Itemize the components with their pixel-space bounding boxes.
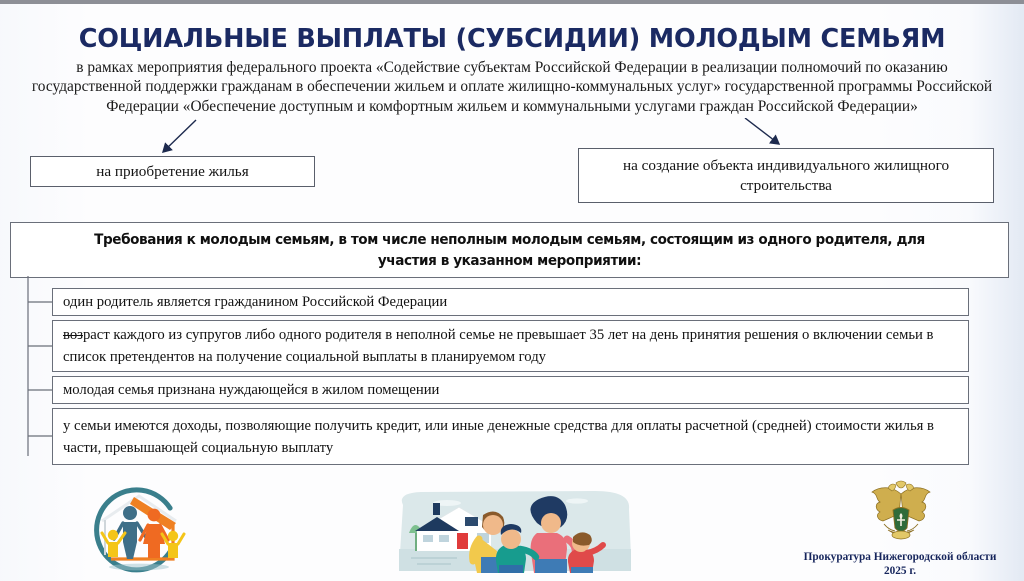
requirement-item[interactable]: возраст каждого из супругов либо одного … xyxy=(52,320,969,372)
top-divider-bar xyxy=(0,0,1024,4)
purpose-label: на приобретение жилья xyxy=(96,162,248,182)
requirement-text: у семьи имеются доходы, позволяющие полу… xyxy=(63,415,945,459)
family-house-logo xyxy=(78,483,200,575)
footer-year: 2025 г. xyxy=(776,564,1024,578)
requirement-text-wrapper: возраст каждого из супругов либо одного … xyxy=(63,324,945,368)
prosecutor-eagle-emblem xyxy=(866,480,936,546)
footer-organization: Прокуратура Нижегородской области xyxy=(776,550,1024,564)
family-illustration xyxy=(381,487,649,577)
requirements-header-box: Требования к молодым семьям, в том числе… xyxy=(10,222,1009,278)
page-title: СОЦИАЛЬНЫЕ ВЫПЛАТЫ (СУБСИДИИ) МОЛОДЫМ СЕ… xyxy=(0,24,1024,54)
requirement-strikethrough-prefix: воз xyxy=(63,327,83,343)
requirement-item[interactable]: один родитель является гражданином Росси… xyxy=(52,288,969,316)
requirement-item[interactable]: у семьи имеются доходы, позволяющие полу… xyxy=(52,408,969,465)
requirement-item[interactable]: молодая семья признана нуждающейся в жил… xyxy=(52,376,969,404)
purpose-box-acquisition[interactable]: на приобретение жилья xyxy=(30,156,315,187)
footer-block: Прокуратура Нижегородской области 2025 г… xyxy=(776,550,1024,578)
purpose-box-construction[interactable]: на создание объекта индивидуального жили… xyxy=(578,148,994,203)
requirement-text: раст каждого из супругов либо одного род… xyxy=(63,327,933,365)
requirements-header-text: Требования к молодым семьям, в том числе… xyxy=(70,229,949,271)
page-subtitle: в рамках мероприятия федерального проект… xyxy=(28,58,996,116)
poster-page: СОЦИАЛЬНЫЕ ВЫПЛАТЫ (СУБСИДИИ) МОЛОДЫМ СЕ… xyxy=(0,0,1024,581)
requirement-text: один родитель является гражданином Росси… xyxy=(63,291,447,313)
requirement-text: молодая семья признана нуждающейся в жил… xyxy=(63,379,439,401)
purpose-label: на создание объекта индивидуального жили… xyxy=(579,156,993,196)
